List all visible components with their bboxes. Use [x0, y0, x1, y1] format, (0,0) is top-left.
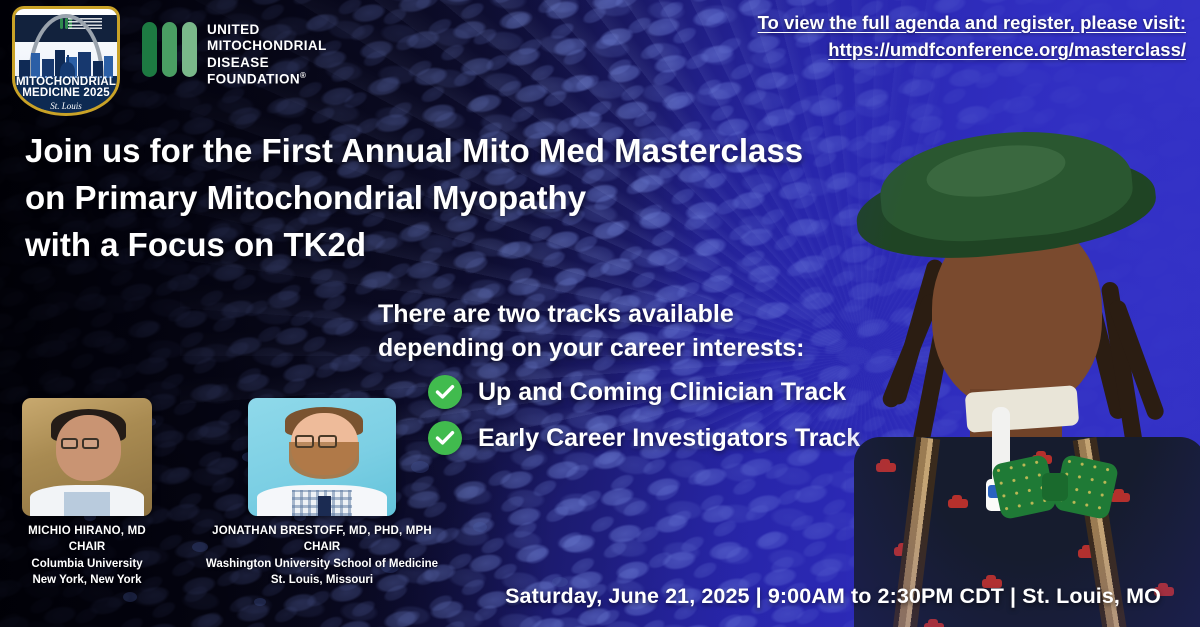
child-portrait-photo [846, 107, 1200, 627]
avatar-hirano [22, 398, 152, 516]
headline-line-2: on Primary Mitochondrial Myopathy [25, 175, 885, 222]
logo-row: MITOCHONDRIAL MEDICINE 2025 St. Louis UN… [12, 6, 327, 116]
chair-card-brestoff: JONATHAN BRESTOFF, MD, PHD, MPH CHAIR Wa… [184, 398, 460, 588]
registered-mark: ® [300, 71, 306, 80]
tracks-lead-line-2: depending on your career interests: [378, 332, 918, 366]
umdf-bars-icon [142, 22, 197, 77]
chair-name-brestoff: JONATHAN BRESTOFF, MD, PHD, MPH [184, 523, 460, 539]
chair-location-brestoff: St. Louis, Missouri [184, 572, 460, 588]
chair-card-hirano: MICHIO HIRANO, MD CHAIR Columbia Univers… [22, 398, 152, 588]
chair-location-hirano: New York, New York [22, 572, 152, 588]
mitochondrial-medicine-2025-badge: MITOCHONDRIAL MEDICINE 2025 St. Louis [12, 6, 120, 116]
headline-line-3: with a Focus on TK2d [25, 222, 885, 269]
chair-institution-hirano: Columbia University [22, 556, 152, 572]
register-link[interactable]: To view the full agenda and register, pl… [666, 10, 1186, 64]
umdf-line-4: FOUNDATION [207, 72, 300, 87]
tracks-lead-line-1: There are two tracks available [378, 298, 918, 332]
chair-role-brestoff: CHAIR [184, 539, 460, 555]
page-title: Join us for the First Annual Mito Med Ma… [25, 128, 885, 269]
chair-institution-brestoff: Washington University School of Medicine [184, 556, 460, 572]
badge-line-2: MEDICINE 2025 [22, 88, 110, 100]
chair-role-hirano: CHAIR [22, 539, 152, 555]
chair-name-hirano: MICHIO HIRANO, MD [22, 523, 152, 539]
track-item-clinician: Up and Coming Clinician Track [428, 375, 918, 409]
umdf-line-1: UNITED [207, 22, 327, 38]
badge-line-3: St. Louis [50, 101, 82, 111]
headline-line-1: Join us for the First Annual Mito Med Ma… [25, 128, 885, 175]
track-label-investigator: Early Career Investigators Track [478, 424, 860, 453]
track-item-investigator: Early Career Investigators Track [428, 421, 918, 455]
umdf-line-3: DISEASE [207, 55, 327, 71]
register-url[interactable]: https://umdfconference.org/masterclass/ [666, 37, 1186, 64]
masterclass-promo-poster: MITOCHONDRIAL MEDICINE 2025 St. Louis UN… [0, 0, 1200, 627]
track-label-clinician: Up and Coming Clinician Track [478, 378, 846, 407]
umdf-logo: UNITED MITOCHONDRIAL DISEASE FOUNDATION® [142, 22, 327, 88]
register-line-1: To view the full agenda and register, pl… [666, 10, 1186, 37]
umdf-line-2: MITOCHONDRIAL [207, 38, 327, 54]
avatar-brestoff [248, 398, 396, 516]
event-details-footer: Saturday, June 21, 2025 | 9:00AM to 2:30… [480, 584, 1186, 609]
